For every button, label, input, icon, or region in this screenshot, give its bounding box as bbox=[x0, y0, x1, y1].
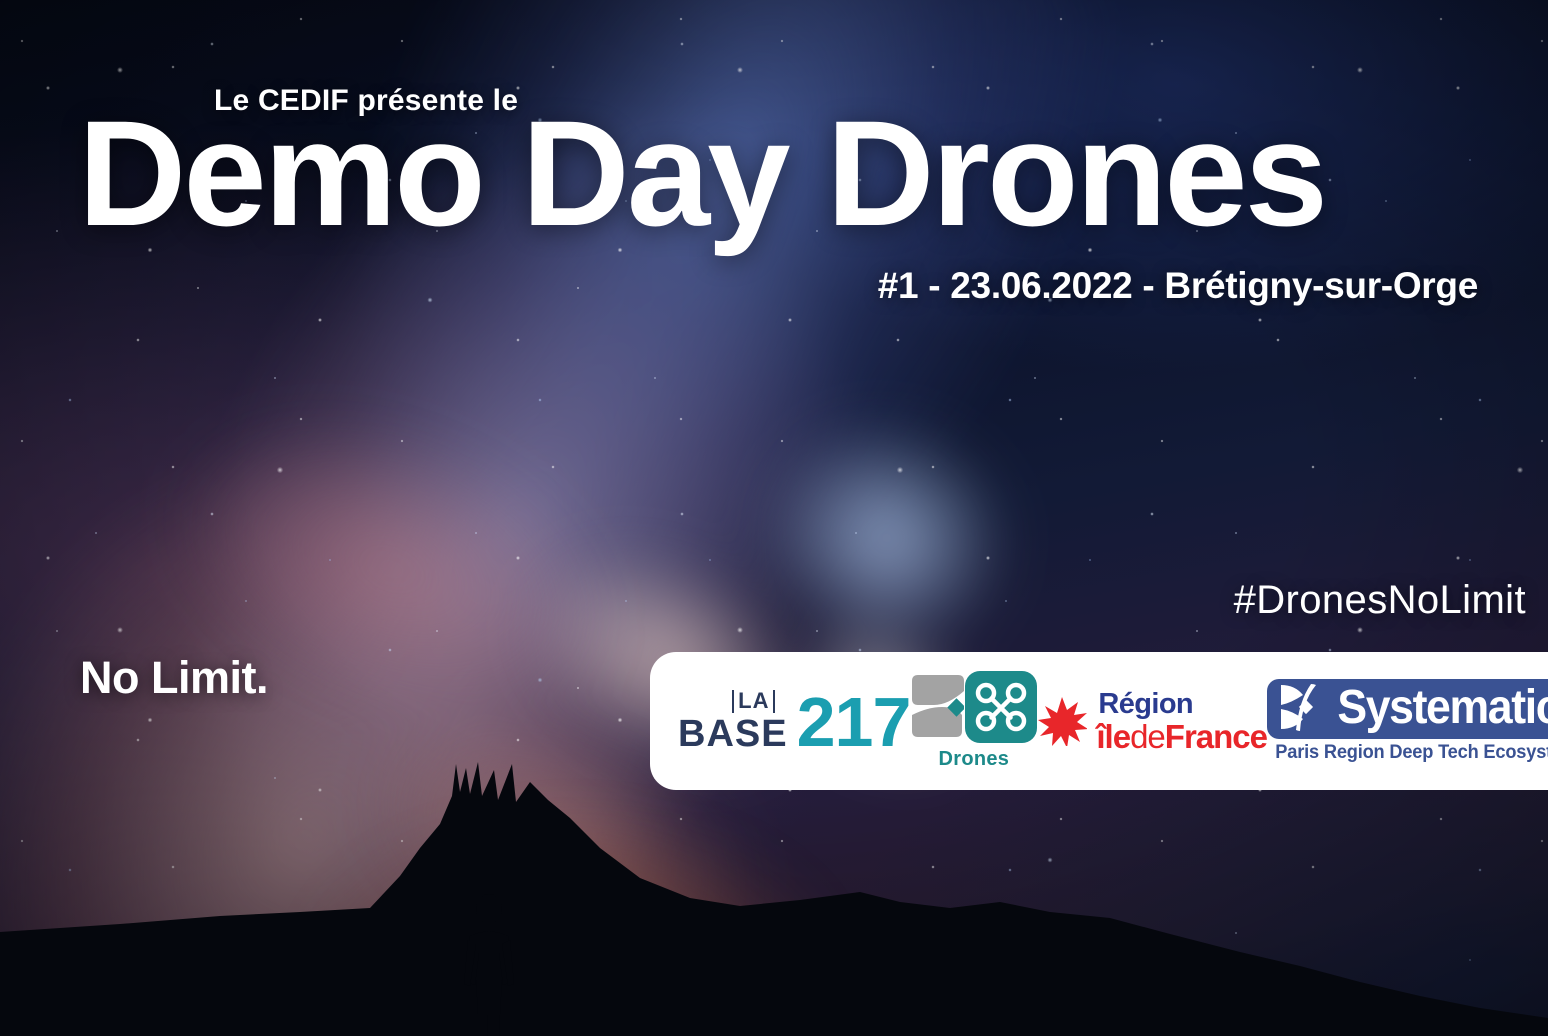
drones-grey-shapes-icon bbox=[910, 671, 964, 743]
hill-silhouette bbox=[0, 762, 1548, 1036]
event-details: #1 - 23.06.2022 - Brétigny-sur-Orge bbox=[878, 265, 1478, 307]
logo-drones[interactable]: Drones bbox=[910, 671, 1037, 771]
idf-ile: île bbox=[1096, 718, 1130, 755]
idf-france: France bbox=[1165, 718, 1267, 755]
systematic-tagline: Paris Region Deep Tech Ecosystem bbox=[1275, 742, 1548, 764]
hill-landscape bbox=[0, 756, 1548, 1036]
logo-la-base-217[interactable]: LA BASE 217 bbox=[678, 690, 910, 753]
event-poster: Le CEDIF présente le Demo Day Drones #1 … bbox=[0, 0, 1548, 1036]
drones-label: Drones bbox=[939, 748, 1010, 771]
logo-region-ile-de-france[interactable]: Région îledeFrance bbox=[1037, 690, 1267, 753]
logo-systematic[interactable]: Systematic Paris Region Deep Tech Ecosys… bbox=[1267, 679, 1548, 764]
hashtag: #DronesNoLimit bbox=[1234, 578, 1526, 623]
systematic-network-icon bbox=[1277, 683, 1323, 733]
sponsor-logo-bar: LA BASE 217 bbox=[650, 652, 1548, 790]
region-word: Région bbox=[1098, 690, 1267, 719]
red-star-burst-icon bbox=[1037, 696, 1087, 746]
tagline: No Limit. bbox=[80, 652, 268, 704]
systematic-name: Systematic bbox=[1337, 684, 1548, 732]
page-title: Demo Day Drones bbox=[78, 104, 1325, 242]
base217-number: 217 bbox=[797, 692, 911, 752]
base217-la-text: LA bbox=[732, 690, 775, 713]
base217-base-text: BASE bbox=[678, 715, 788, 753]
quadcopter-drone-icon bbox=[965, 671, 1037, 743]
idf-de: de bbox=[1130, 718, 1165, 755]
